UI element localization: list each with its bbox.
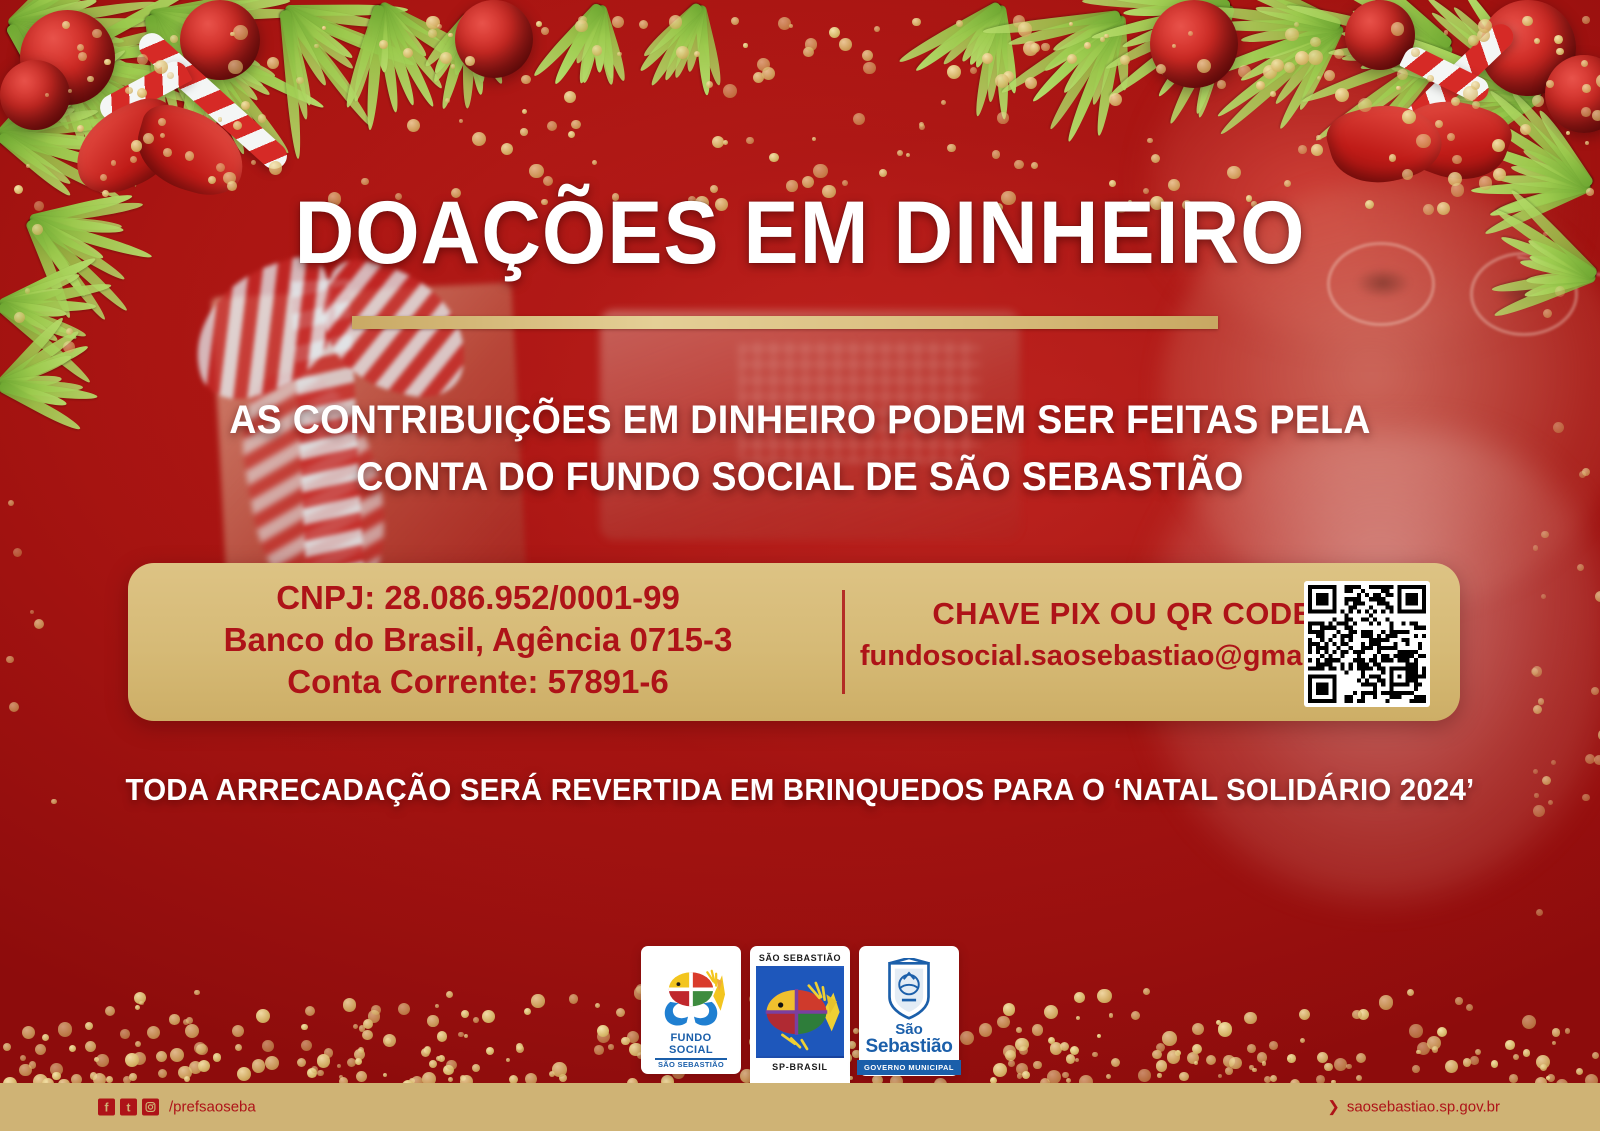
instagram-icon[interactable]: [142, 1099, 159, 1116]
panel-divider: [842, 590, 845, 694]
twitter-icon[interactable]: t: [120, 1099, 137, 1116]
social-handle[interactable]: /prefsaoseba: [169, 1099, 256, 1116]
footer-bar: f t /prefsaoseba ❯ saosebastiao.sp.gov.b…: [0, 1083, 1600, 1131]
title-underline-rule: [352, 316, 1218, 329]
poster-content: DOAÇÕES EM DINHEIRO AS CONTRIBUIÇÕES EM …: [0, 0, 1600, 1131]
website-url[interactable]: saosebastiao.sp.gov.br: [1347, 1099, 1500, 1116]
gm-band-label: GOVERNO MUNICIPAL: [857, 1060, 961, 1075]
donation-info-panel: CNPJ: 28.086.952/0001-99 Banco do Brasil…: [128, 563, 1460, 721]
website-link[interactable]: ❯ saosebastiao.sp.gov.br: [1327, 1099, 1500, 1116]
subtitle-line-1: AS CONTRIBUIÇÕES EM DINHEIRO PODEM SER F…: [48, 392, 1552, 449]
gm-line-2: Sebastião: [865, 1038, 952, 1057]
fish-in-hands-icon: [654, 956, 728, 1030]
painted-fish-icon: [756, 966, 844, 1058]
page-title: DOAÇÕES EM DINHEIRO: [56, 188, 1544, 277]
coat-of-arms-icon: [882, 958, 936, 1020]
fundo-social-line-1: FUNDO SOCIAL: [647, 1033, 735, 1056]
logos-row: FUNDO SOCIAL SÃO SEBASTIÃO SÃO SEBASTIÃO: [0, 946, 1600, 1091]
bank-agency-value: Banco do Brasil, Agência 0715-3: [148, 619, 808, 661]
qr-code-canvas: [1308, 585, 1426, 703]
brasao-bottom-text: SP-BRASIL: [772, 1062, 828, 1072]
donation-usage-note: TODA ARRECADAÇÃO SERÁ REVERTIDA EM BRINQ…: [40, 772, 1560, 808]
facebook-icon[interactable]: f: [98, 1099, 115, 1116]
poster-subtitle: AS CONTRIBUIÇÕES EM DINHEIRO PODEM SER F…: [48, 392, 1552, 506]
subtitle-line-2: CONTA DO FUNDO SOCIAL DE SÃO SEBASTIÃO: [48, 449, 1552, 506]
bank-details-block: CNPJ: 28.086.952/0001-99 Banco do Brasil…: [148, 577, 808, 704]
fundo-social-wordmark: FUNDO SOCIAL SÃO SEBASTIÃO: [647, 1033, 735, 1069]
logo-fundo-social: FUNDO SOCIAL SÃO SEBASTIÃO: [641, 946, 741, 1074]
logo-governo-municipal: São Sebastião GOVERNO MUNICIPAL: [859, 946, 959, 1076]
qr-code[interactable]: [1304, 581, 1430, 707]
social-links[interactable]: f t /prefsaoseba: [98, 1099, 256, 1116]
account-number-value: Conta Corrente: 57891-6: [148, 661, 808, 703]
chevron-right-icon: ❯: [1327, 1100, 1340, 1115]
fundo-social-line-2: SÃO SEBASTIÃO: [647, 1061, 735, 1069]
poster-root: DOAÇÕES EM DINHEIRO AS CONTRIBUIÇÕES EM …: [0, 0, 1600, 1131]
governo-municipal-wordmark: São Sebastião: [865, 1023, 952, 1056]
cnpj-value: CNPJ: 28.086.952/0001-99: [148, 577, 808, 619]
logo-sao-sebastiao-brasao: SÃO SEBASTIÃO: [750, 946, 850, 1091]
brasao-top-text: SÃO SEBASTIÃO: [759, 953, 841, 963]
